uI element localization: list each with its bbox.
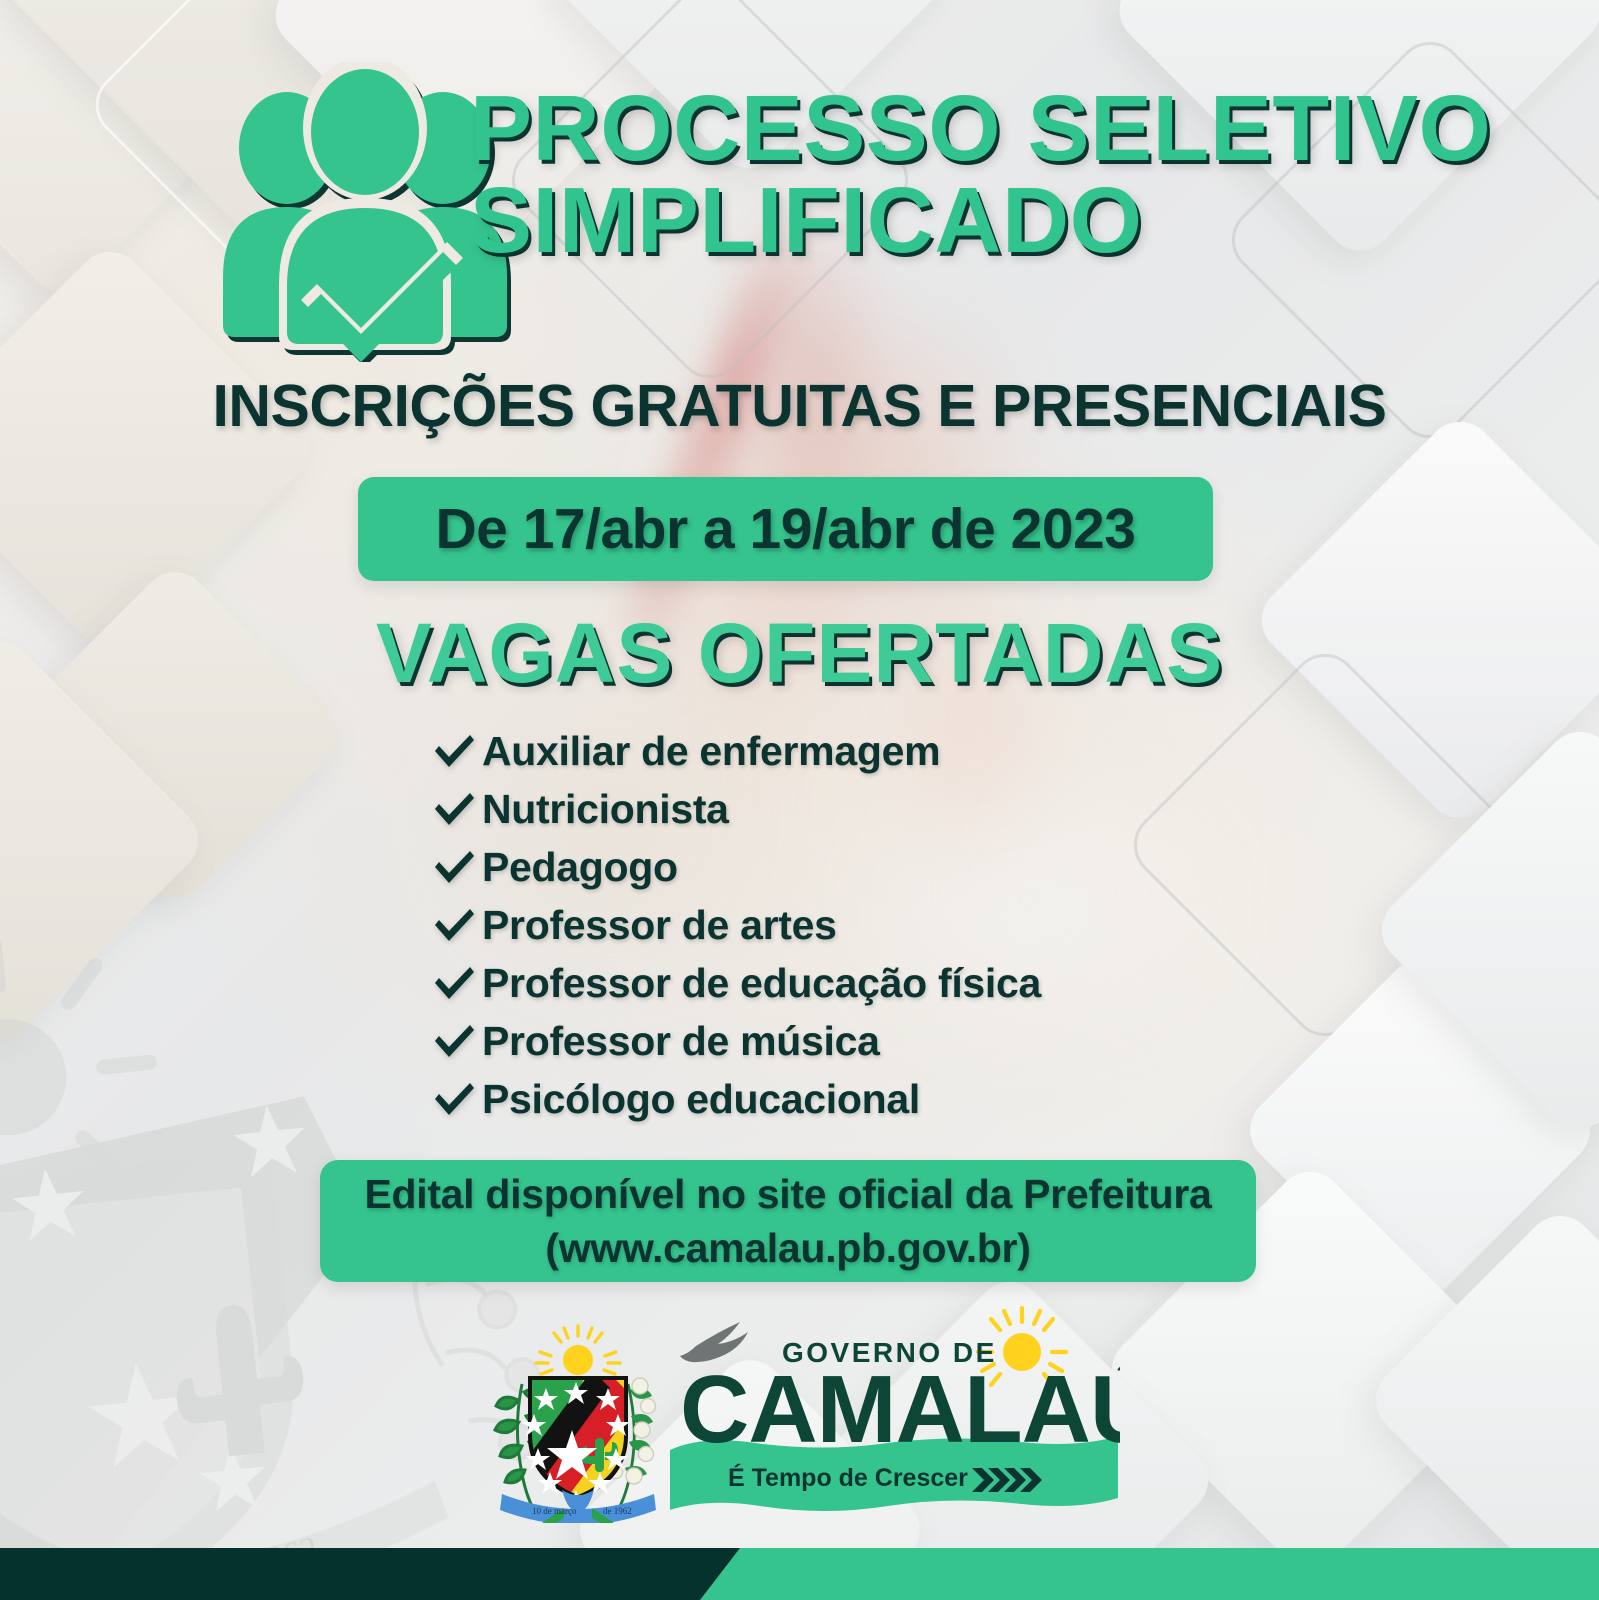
list-item-label: Professor de música: [482, 1018, 880, 1065]
check-icon: [432, 849, 482, 885]
check-icon: [432, 733, 482, 769]
list-item: Pedagogo: [432, 839, 1232, 895]
check-icon: [432, 907, 482, 943]
vacancies-heading: VAGAS OFERTADAS: [0, 605, 1599, 702]
check-icon: [432, 1081, 482, 1117]
list-item: Auxiliar de enfermagem: [432, 723, 1232, 779]
list-item: Psicólogo educacional: [432, 1071, 1232, 1127]
edital-line-2: (www.camalau.pb.gov.br): [545, 1221, 1030, 1275]
footer-bar: [0, 1548, 1599, 1600]
logo-tagline: É Tempo de Crescer: [728, 1463, 968, 1492]
page-title: PROCESSO SELETIVO SIMPLIFICADO: [470, 82, 1530, 266]
edital-info-box: Edital disponível no site oficial da Pre…: [320, 1160, 1256, 1282]
coat-of-arms-icon: 10 de março de 1962: [488, 1318, 668, 1523]
page-subtitle: INSCRIÇÕES GRATUITAS E PRESENCIAIS: [0, 372, 1599, 440]
check-icon: [432, 791, 482, 827]
coat-of-arms-ribbon-left: 10 de março: [532, 1506, 577, 1516]
footer-bar-dark: [0, 1548, 740, 1600]
list-item-label: Professor de artes: [482, 902, 837, 949]
check-icon: [432, 1023, 482, 1059]
logo-name: CAMALAÚ: [680, 1356, 1120, 1463]
list-item: Nutricionista: [432, 781, 1232, 837]
poster-root: de 1962: [0, 0, 1599, 1600]
registration-date-badge: De 17/abr a 19/abr de 2023: [358, 477, 1213, 581]
people-check-icon: [205, 62, 515, 362]
list-item: Professor de artes: [432, 897, 1232, 953]
edital-line-1: Edital disponível no site oficial da Pre…: [364, 1167, 1211, 1221]
registration-date-text: De 17/abr a 19/abr de 2023: [436, 496, 1136, 562]
list-item-label: Pedagogo: [482, 844, 678, 891]
list-item-label: Psicólogo educacional: [482, 1076, 920, 1123]
page-title-line-2: SIMPLIFICADO: [470, 174, 1530, 266]
list-item: Professor de educação física: [432, 955, 1232, 1011]
page-title-line-1: PROCESSO SELETIVO: [470, 76, 1491, 180]
list-item-label: Professor de educação física: [482, 960, 1041, 1007]
list-item-label: Nutricionista: [482, 786, 729, 833]
list-item-label: Auxiliar de enfermagem: [482, 728, 940, 775]
logo-wordmark: GOVERNO DE CAMALAÚ É Tempo de Crescer: [670, 1300, 1120, 1540]
government-logo: 10 de março de 1962: [480, 1300, 1120, 1540]
vacancies-list: Auxiliar de enfermagem Nutricionista Ped…: [432, 723, 1232, 1129]
coat-of-arms-ribbon-right: de 1962: [603, 1506, 632, 1516]
list-item: Professor de música: [432, 1013, 1232, 1069]
check-icon: [432, 965, 482, 1001]
